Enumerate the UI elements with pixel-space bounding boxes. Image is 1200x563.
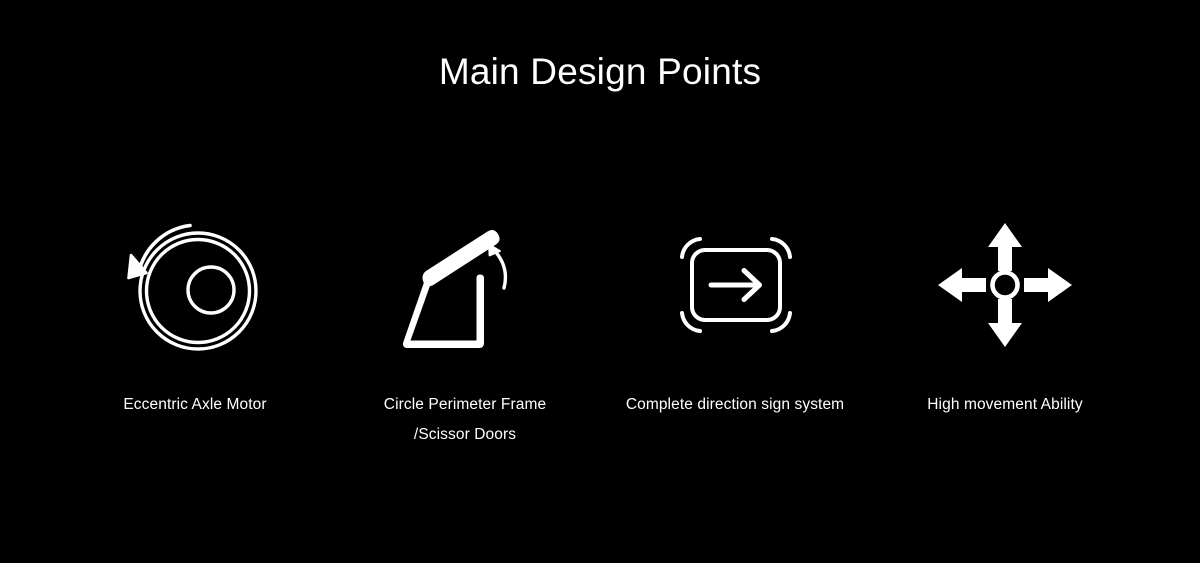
design-point-scissor-doors: Circle Perimeter Frame /Scissor Doors	[330, 205, 600, 450]
design-point-caption: Circle Perimeter Frame /Scissor Doors	[384, 390, 546, 450]
page-title: Main Design Points	[0, 52, 1200, 93]
slide-root: Main Design Points Eccentric Axle Motor	[0, 0, 1200, 563]
design-point-eccentric-axle-motor: Eccentric Axle Motor	[60, 205, 330, 420]
design-point-caption: Complete direction sign system	[626, 390, 844, 420]
design-point-movement-ability: High movement Ability	[870, 205, 1140, 420]
design-point-direction-sign: Complete direction sign system	[600, 205, 870, 420]
direction-sign-system-icon	[655, 205, 815, 365]
omnidirectional-movement-icon	[925, 205, 1085, 365]
design-point-caption: High movement Ability	[927, 390, 1082, 420]
scissor-door-frame-icon	[385, 205, 545, 365]
design-points-row: Eccentric Axle Motor Circle Perimeter Fr…	[60, 205, 1140, 450]
eccentric-axle-motor-icon	[115, 205, 275, 365]
design-point-caption: Eccentric Axle Motor	[123, 390, 266, 420]
